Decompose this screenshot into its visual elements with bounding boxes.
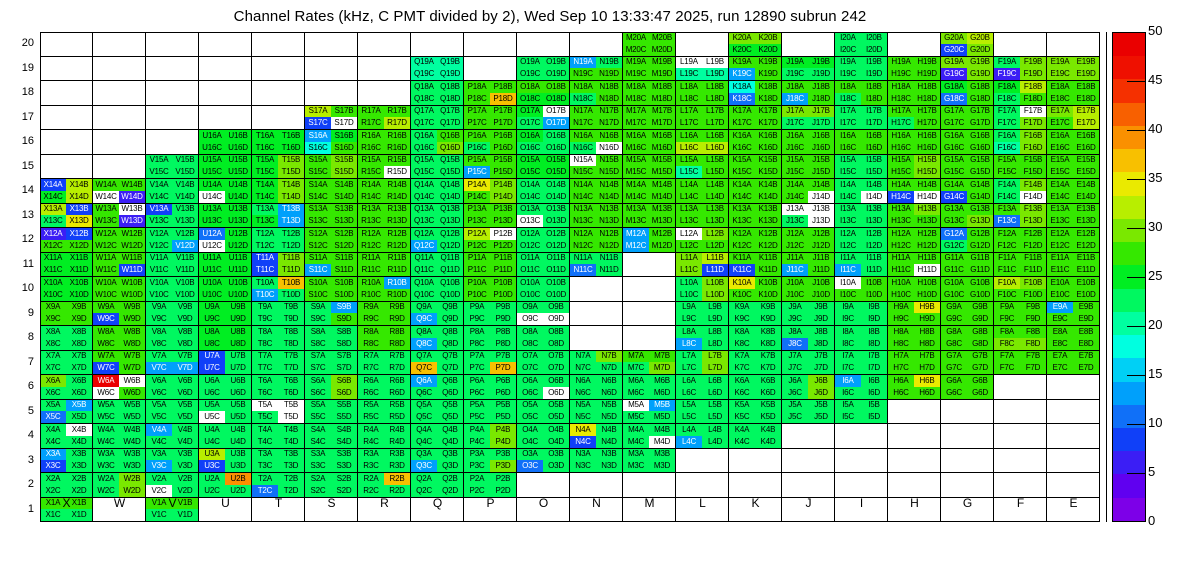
empty-channel: [331, 93, 357, 105]
channel-J6D: J6D: [808, 387, 834, 399]
module-cell: [199, 57, 252, 82]
empty-channel: [914, 473, 940, 485]
module-cell: [888, 32, 941, 57]
channel-J15D: J15D: [808, 166, 834, 178]
empty-channel: [755, 473, 781, 485]
channel-H7A: H7A: [888, 351, 914, 363]
empty-channel: [93, 57, 119, 69]
channel-P17C: P17C: [464, 117, 490, 129]
channel-O12D: O12D: [543, 240, 569, 252]
module-cell: [676, 32, 729, 57]
channel-U3B: U3B: [225, 449, 251, 461]
empty-channel: [384, 57, 410, 69]
channel-V4C: V4C: [146, 436, 172, 448]
module-cell: H15AH15BH15CH15D: [888, 155, 941, 180]
module-cell: H8AH8BH8CH8D: [888, 326, 941, 351]
channel-I6A: I6A: [835, 375, 861, 387]
channel-G14C: G14C: [941, 191, 967, 203]
channel-E7C: E7C: [1047, 362, 1073, 374]
module-cell: K8AK8BK8CK8D: [729, 326, 782, 351]
channel-V15A: V15A: [146, 155, 172, 167]
module-cell: R3AR3BR3CR3D: [358, 449, 411, 474]
channel-S3D: S3D: [331, 460, 357, 472]
channel-K5A: K5A: [729, 400, 755, 412]
channel-M5C: M5C: [623, 411, 649, 423]
channel-W11A: W11A: [93, 253, 119, 265]
channel-N13B: N13B: [596, 204, 622, 216]
channel-H19B: H19B: [914, 57, 940, 69]
channel-J6C: J6C: [782, 387, 808, 399]
channel-R9C: R9C: [358, 313, 384, 325]
module-cell: [729, 473, 782, 498]
channel-P18C: P18C: [464, 93, 490, 105]
module-cell: R2AR2BR2CR2D: [358, 473, 411, 498]
channel-V2B: V2B: [172, 473, 198, 485]
channel-N3C: N3C: [570, 460, 596, 472]
empty-channel: [861, 485, 887, 497]
empty-channel: [278, 68, 304, 80]
channel-T5B: T5B: [278, 400, 304, 412]
module-cell: T9AT9BT9CT9D: [252, 302, 305, 327]
channel-N15C: N15C: [570, 166, 596, 178]
channel-M16A: M16A: [623, 130, 649, 142]
channel-F19B: F19B: [1020, 57, 1046, 69]
channel-R5B: R5B: [384, 400, 410, 412]
channel-U10C: U10C: [199, 289, 225, 301]
channel-I18D: I18D: [861, 93, 887, 105]
module-cell: I18AI18BI18CI18D: [835, 81, 888, 106]
channel-L13C: L13C: [676, 215, 702, 227]
channel-H18C: H18C: [888, 93, 914, 105]
channel-L18D: L18D: [702, 93, 728, 105]
empty-channel: [119, 44, 145, 56]
channel-N15A: N15A: [570, 155, 596, 167]
channel-P5D: P5D: [490, 411, 516, 423]
module-cell: [1047, 473, 1100, 498]
channel-H16A: H16A: [888, 130, 914, 142]
module-cell: R4AR4BR4CR4D: [358, 424, 411, 449]
module-cell: [623, 277, 676, 302]
channel-I10D: I10D: [861, 289, 887, 301]
channel-X12D: X12D: [66, 240, 92, 252]
channel-L6B: L6B: [702, 375, 728, 387]
channel-R7B: R7B: [384, 351, 410, 363]
empty-channel: [278, 106, 304, 118]
colorbar-tick-35: 35: [1148, 170, 1162, 185]
empty-channel: [623, 313, 649, 325]
empty-channel: [994, 44, 1020, 56]
module-cell: [623, 473, 676, 498]
module-cell: S16AS16BS16CS16D: [305, 130, 358, 155]
empty-channel: [1047, 436, 1073, 448]
channel-W6D: W6D: [119, 387, 145, 399]
empty-channel: [570, 302, 596, 314]
channel-E9C: E9C: [1047, 313, 1073, 325]
empty-channel: [464, 509, 490, 521]
empty-channel: [835, 449, 861, 461]
channel-H17B: H17B: [914, 106, 940, 118]
channel-V11A: V11A: [146, 253, 172, 265]
empty-channel: [172, 81, 198, 93]
channel-L12B: L12B: [702, 228, 728, 240]
channel-T8B: T8B: [278, 326, 304, 338]
channel-L19B: L19B: [702, 57, 728, 69]
empty-channel: [941, 449, 967, 461]
module-cell: S15AS15BS15CS15D: [305, 155, 358, 180]
module-cell: L18AL18BL18CL18D: [676, 81, 729, 106]
module-cell: O16AO16BO16CO16D: [517, 130, 570, 155]
empty-channel: [888, 473, 914, 485]
channel-Q9A: Q9A: [411, 302, 437, 314]
channel-K20A: K20A: [729, 32, 755, 44]
channel-K5C: K5C: [729, 411, 755, 423]
channel-X11C: X11C: [40, 264, 66, 276]
channel-O3B: O3B: [543, 449, 569, 461]
channel-U6D: U6D: [225, 387, 251, 399]
channel-J18A: J18A: [782, 81, 808, 93]
channel-F15D: F15D: [1020, 166, 1046, 178]
channel-Q11C: Q11C: [411, 264, 437, 276]
empty-channel: [941, 411, 967, 423]
channel-R12D: R12D: [384, 240, 410, 252]
module-cell: E16AE16BE16CE16D: [1047, 130, 1100, 155]
channel-P9A: P9A: [464, 302, 490, 314]
channel-R5D: R5D: [384, 411, 410, 423]
empty-channel: [782, 485, 808, 497]
empty-channel: [861, 509, 887, 521]
channel-R10B: R10B: [384, 277, 410, 289]
channel-T4D: T4D: [278, 436, 304, 448]
channel-L12C: L12C: [676, 240, 702, 252]
channel-Q10A: Q10A: [411, 277, 437, 289]
channel-T15C: T15C: [252, 166, 278, 178]
channel-F7A: F7A: [994, 351, 1020, 363]
module-cell: L13AL13BL13CL13D: [676, 204, 729, 229]
empty-channel: [331, 81, 357, 93]
empty-channel: [1047, 473, 1073, 485]
channel-F17B: F17B: [1020, 106, 1046, 118]
channel-H8C: H8C: [888, 338, 914, 350]
channel-W2B: W2B: [119, 473, 145, 485]
channel-W9C: W9C: [93, 313, 119, 325]
empty-channel: [649, 264, 675, 276]
channel-R6D: R6D: [384, 387, 410, 399]
channel-E12B: E12B: [1073, 228, 1099, 240]
channel-S15A: S15A: [305, 155, 331, 167]
channel-F13A: F13A: [994, 204, 1020, 216]
channel-P9D: P9D: [490, 313, 516, 325]
channel-E12C: E12C: [1047, 240, 1073, 252]
module-cell: F18AF18BF18CF18D: [994, 81, 1047, 106]
channel-V15C: V15C: [146, 166, 172, 178]
module-cell: R14AR14BR14CR14D: [358, 179, 411, 204]
empty-channel: [225, 81, 251, 93]
empty-channel: [1047, 509, 1073, 521]
channel-R9A: R9A: [358, 302, 384, 314]
channel-R4B: R4B: [384, 424, 410, 436]
channel-E11C: E11C: [1047, 264, 1073, 276]
channel-P8A: P8A: [464, 326, 490, 338]
module-cell: M20AM20BM20CM20D: [623, 32, 676, 57]
colorbar-band: [1113, 382, 1145, 405]
channel-W11C: W11C: [93, 264, 119, 276]
empty-channel: [888, 424, 914, 436]
module-cell: [941, 473, 994, 498]
channel-F8A: F8A: [994, 326, 1020, 338]
channel-X2B: X2B: [66, 473, 92, 485]
channel-M4D: M4D: [649, 436, 675, 448]
channel-W14A: W14A: [93, 179, 119, 191]
module-cell: U3AU3BU3CU3D: [199, 449, 252, 474]
channel-W10A: W10A: [93, 277, 119, 289]
channel-O4B: O4B: [543, 424, 569, 436]
channel-R4D: R4D: [384, 436, 410, 448]
empty-channel: [1073, 460, 1099, 472]
x-axis-label-E: E: [1047, 496, 1100, 510]
empty-channel: [888, 460, 914, 472]
channel-G10B: G10B: [967, 277, 993, 289]
channel-I17C: I17C: [835, 117, 861, 129]
x-axis-label-N: N: [570, 496, 623, 510]
module-cell: N4AN4BN4CN4D: [570, 424, 623, 449]
channel-X6B: X6B: [66, 375, 92, 387]
module-cell: [305, 81, 358, 106]
channel-W7D: W7D: [119, 362, 145, 374]
channel-J10C: J10C: [782, 289, 808, 301]
channel-V12D: V12D: [172, 240, 198, 252]
channel-O12A: O12A: [517, 228, 543, 240]
channel-O6D: O6D: [543, 387, 569, 399]
module-cell: R6AR6BR6CR6D: [358, 375, 411, 400]
empty-channel: [384, 68, 410, 80]
empty-channel: [172, 68, 198, 80]
empty-channel: [331, 32, 357, 44]
channel-O6C: O6C: [517, 387, 543, 399]
empty-channel: [119, 68, 145, 80]
empty-channel: [93, 93, 119, 105]
channel-P4A: P4A: [464, 424, 490, 436]
channel-P2C: P2C: [464, 485, 490, 497]
empty-channel: [358, 57, 384, 69]
channel-H13B: H13B: [914, 204, 940, 216]
channel-T6D: T6D: [278, 387, 304, 399]
channel-M19C: M19C: [623, 68, 649, 80]
channel-L4A: L4A: [676, 424, 702, 436]
channel-K16B: K16B: [755, 130, 781, 142]
channel-F16A: F16A: [994, 130, 1020, 142]
empty-channel: [543, 32, 569, 44]
channel-P9B: P9B: [490, 302, 516, 314]
channel-R15D: R15D: [384, 166, 410, 178]
empty-channel: [1020, 449, 1046, 461]
module-cell: H11AH11BH11CH11D: [888, 253, 941, 278]
empty-channel: [199, 81, 225, 93]
channel-G9A: G9A: [941, 302, 967, 314]
channel-G12A: G12A: [941, 228, 967, 240]
channel-W8C: W8C: [93, 338, 119, 350]
channel-M20A: M20A: [623, 32, 649, 44]
module-cell: G9AG9BG9CG9D: [941, 302, 994, 327]
channel-E8D: E8D: [1073, 338, 1099, 350]
channel-G20B: G20B: [967, 32, 993, 44]
channel-N3D: N3D: [596, 460, 622, 472]
channel-S7D: S7D: [331, 362, 357, 374]
module-cell: [623, 302, 676, 327]
channel-O7A: O7A: [517, 351, 543, 363]
empty-channel: [252, 106, 278, 118]
channel-Q8D: Q8D: [437, 338, 463, 350]
channel-O15D: O15D: [543, 166, 569, 178]
module-cell: W4AW4BW4CW4D: [93, 424, 146, 449]
channel-R10A: R10A: [358, 277, 384, 289]
channel-V8C: V8C: [146, 338, 172, 350]
module-cell: U5AU5BU5CU5D: [199, 400, 252, 425]
channel-F16B: F16B: [1020, 130, 1046, 142]
module-cell: O19AO19BO19CO19D: [517, 57, 570, 82]
channel-P15D: P15D: [490, 166, 516, 178]
channel-K10A: K10A: [729, 277, 755, 289]
channel-S11C: S11C: [305, 264, 331, 276]
empty-channel: [782, 44, 808, 56]
channel-P10D: P10D: [490, 289, 516, 301]
channel-K13D: K13D: [755, 215, 781, 227]
channel-H7D: H7D: [914, 362, 940, 374]
channel-Q8A: Q8A: [411, 326, 437, 338]
empty-channel: [888, 44, 914, 56]
channel-S11D: S11D: [331, 264, 357, 276]
channel-S12A: S12A: [305, 228, 331, 240]
channel-M12D: M12D: [649, 240, 675, 252]
x-axis-label-Q: Q: [411, 496, 464, 510]
channel-U2C: U2C: [199, 485, 225, 497]
empty-channel: [437, 509, 463, 521]
empty-channel: [252, 81, 278, 93]
module-cell: F13AF13BF13CF13D: [994, 204, 1047, 229]
empty-channel: [596, 313, 622, 325]
module-cell: [835, 424, 888, 449]
channel-M14A: M14A: [623, 179, 649, 191]
module-cell: U11AU11BU11CU11D: [199, 253, 252, 278]
channel-S16A: S16A: [305, 130, 331, 142]
module-cell: K9AK9BK9CK9D: [729, 302, 782, 327]
empty-channel: [225, 44, 251, 56]
channel-P4B: P4B: [490, 424, 516, 436]
colorbar-tickmark: [1127, 326, 1146, 327]
empty-channel: [623, 338, 649, 350]
module-cell: V15AV15BV15CV15D: [146, 155, 199, 180]
channel-F10D: F10D: [1020, 289, 1046, 301]
channel-V4D: V4D: [172, 436, 198, 448]
module-cell: U13AU13BU13CU13D: [199, 204, 252, 229]
module-cell: P6AP6BP6CP6D: [464, 375, 517, 400]
module-cell: T13AT13BT13CT13D: [252, 204, 305, 229]
channel-K4A: K4A: [729, 424, 755, 436]
channel-G8B: G8B: [967, 326, 993, 338]
module-cell: [146, 130, 199, 155]
channel-S7B: S7B: [331, 351, 357, 363]
channel-Q13D: Q13D: [437, 215, 463, 227]
colorbar-band: [1113, 289, 1145, 312]
empty-channel: [40, 155, 66, 167]
channel-H15A: H15A: [888, 155, 914, 167]
empty-channel: [835, 485, 861, 497]
channel-O8A: O8A: [517, 326, 543, 338]
channel-M19B: M19B: [649, 57, 675, 69]
channel-G19A: G19A: [941, 57, 967, 69]
channel-G18A: G18A: [941, 81, 967, 93]
channel-U16D: U16D: [225, 142, 251, 154]
channel-H19D: H19D: [914, 68, 940, 80]
channel-J5A: J5A: [782, 400, 808, 412]
module-cell: K6AK6BK6CK6D: [729, 375, 782, 400]
channel-F10A: F10A: [994, 277, 1020, 289]
channel-X8B: X8B: [66, 326, 92, 338]
module-cell: F9AF9BF9CF9D: [994, 302, 1047, 327]
channel-L18B: L18B: [702, 81, 728, 93]
module-cell: [305, 32, 358, 57]
channel-I18A: I18A: [835, 81, 861, 93]
channel-O8C: O8C: [517, 338, 543, 350]
empty-channel: [1047, 375, 1073, 387]
channel-N17A: N17A: [570, 106, 596, 118]
channel-S7A: S7A: [305, 351, 331, 363]
module-cell: P5AP5BP5CP5D: [464, 400, 517, 425]
channel-V7C: V7C: [146, 362, 172, 374]
x-axis-label-G: G: [941, 496, 994, 510]
channel-K15C: K15C: [729, 166, 755, 178]
channel-L7A: L7A: [676, 351, 702, 363]
channel-N14D: N14D: [596, 191, 622, 203]
channel-H7C: H7C: [888, 362, 914, 374]
channel-U14A: U14A: [199, 179, 225, 191]
empty-channel: [40, 93, 66, 105]
channel-Q5D: Q5D: [437, 411, 463, 423]
module-cell: I16AI16BI16CI16D: [835, 130, 888, 155]
channel-T14A: T14A: [252, 179, 278, 191]
channel-M7C: M7C: [623, 362, 649, 374]
module-cell: [464, 32, 517, 57]
channel-E19B: E19B: [1073, 57, 1099, 69]
module-cell: O3AO3BO3CO3D: [517, 449, 570, 474]
module-cell: [252, 57, 305, 82]
module-cell: F7AF7BF7CF7D: [994, 351, 1047, 376]
channel-H10D: H10D: [914, 289, 940, 301]
channel-F19C: F19C: [994, 68, 1020, 80]
module-cell: V7AV7BV7CV7D: [146, 351, 199, 376]
channel-N11B: N11B: [596, 253, 622, 265]
module-cell: U15AU15BU15CU15D: [199, 155, 252, 180]
channel-H14D: H14D: [914, 191, 940, 203]
channel-P14D: P14D: [490, 191, 516, 203]
channel-U2B: U2B: [225, 473, 251, 485]
empty-channel: [199, 32, 225, 44]
channel-F19A: F19A: [994, 57, 1020, 69]
empty-channel: [914, 32, 940, 44]
channel-K13B: K13B: [755, 204, 781, 216]
channel-H15B: H15B: [914, 155, 940, 167]
module-cell: T5AT5BT5CT5D: [252, 400, 305, 425]
channel-U14C: U14C: [199, 191, 225, 203]
channel-I17D: I17D: [861, 117, 887, 129]
channel-S9D: S9D: [331, 313, 357, 325]
channel-F11D: F11D: [1020, 264, 1046, 276]
module-cell: [199, 32, 252, 57]
module-cell: O9AO9BO9CO9D: [517, 302, 570, 327]
channel-U15A: U15A: [199, 155, 225, 167]
module-cell: M17AM17BM17CM17D: [623, 106, 676, 131]
channel-J15B: J15B: [808, 155, 834, 167]
empty-channel: [358, 68, 384, 80]
